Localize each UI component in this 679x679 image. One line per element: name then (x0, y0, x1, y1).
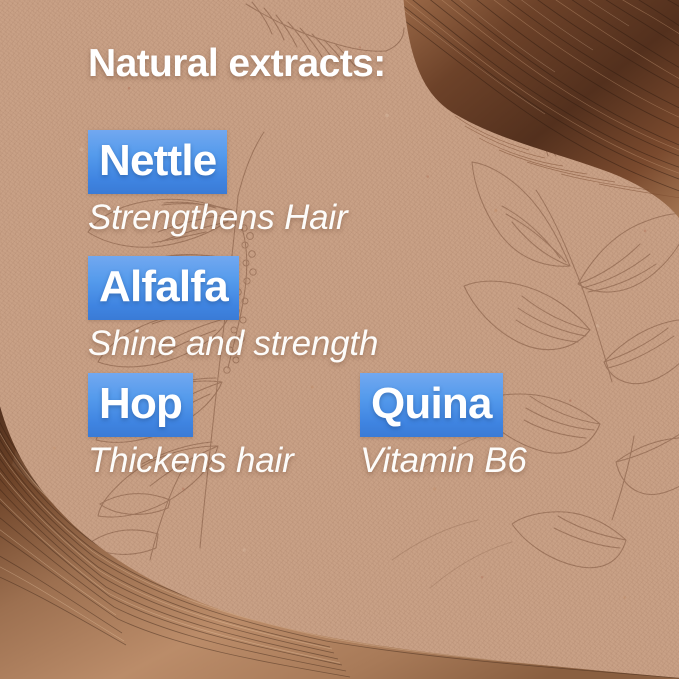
extract-description-alfalfa: Shine and strength (88, 324, 378, 363)
extract-name-badge-nettle: Nettle (88, 130, 227, 194)
extract-description-nettle: Strengthens Hair (88, 198, 347, 237)
extract-item-alfalfa: Alfalfa Shine and strength (88, 256, 378, 363)
poster-content: Natural extracts: Nettle Strengthens Hai… (0, 0, 679, 679)
extract-item-hop: Hop Thickens hair (88, 373, 294, 480)
extract-item-nettle: Nettle Strengthens Hair (88, 130, 347, 237)
page-title: Natural extracts: (88, 42, 386, 86)
extract-name-badge-alfalfa: Alfalfa (88, 256, 239, 320)
extract-name-badge-hop: Hop (88, 373, 193, 437)
extract-item-quina: Quina Vitamin B6 (360, 373, 527, 480)
extract-name-badge-quina: Quina (360, 373, 503, 437)
natural-extracts-poster: Natural extracts: Nettle Strengthens Hai… (0, 0, 679, 679)
extract-description-hop: Thickens hair (88, 441, 294, 480)
extract-description-quina: Vitamin B6 (360, 441, 527, 480)
